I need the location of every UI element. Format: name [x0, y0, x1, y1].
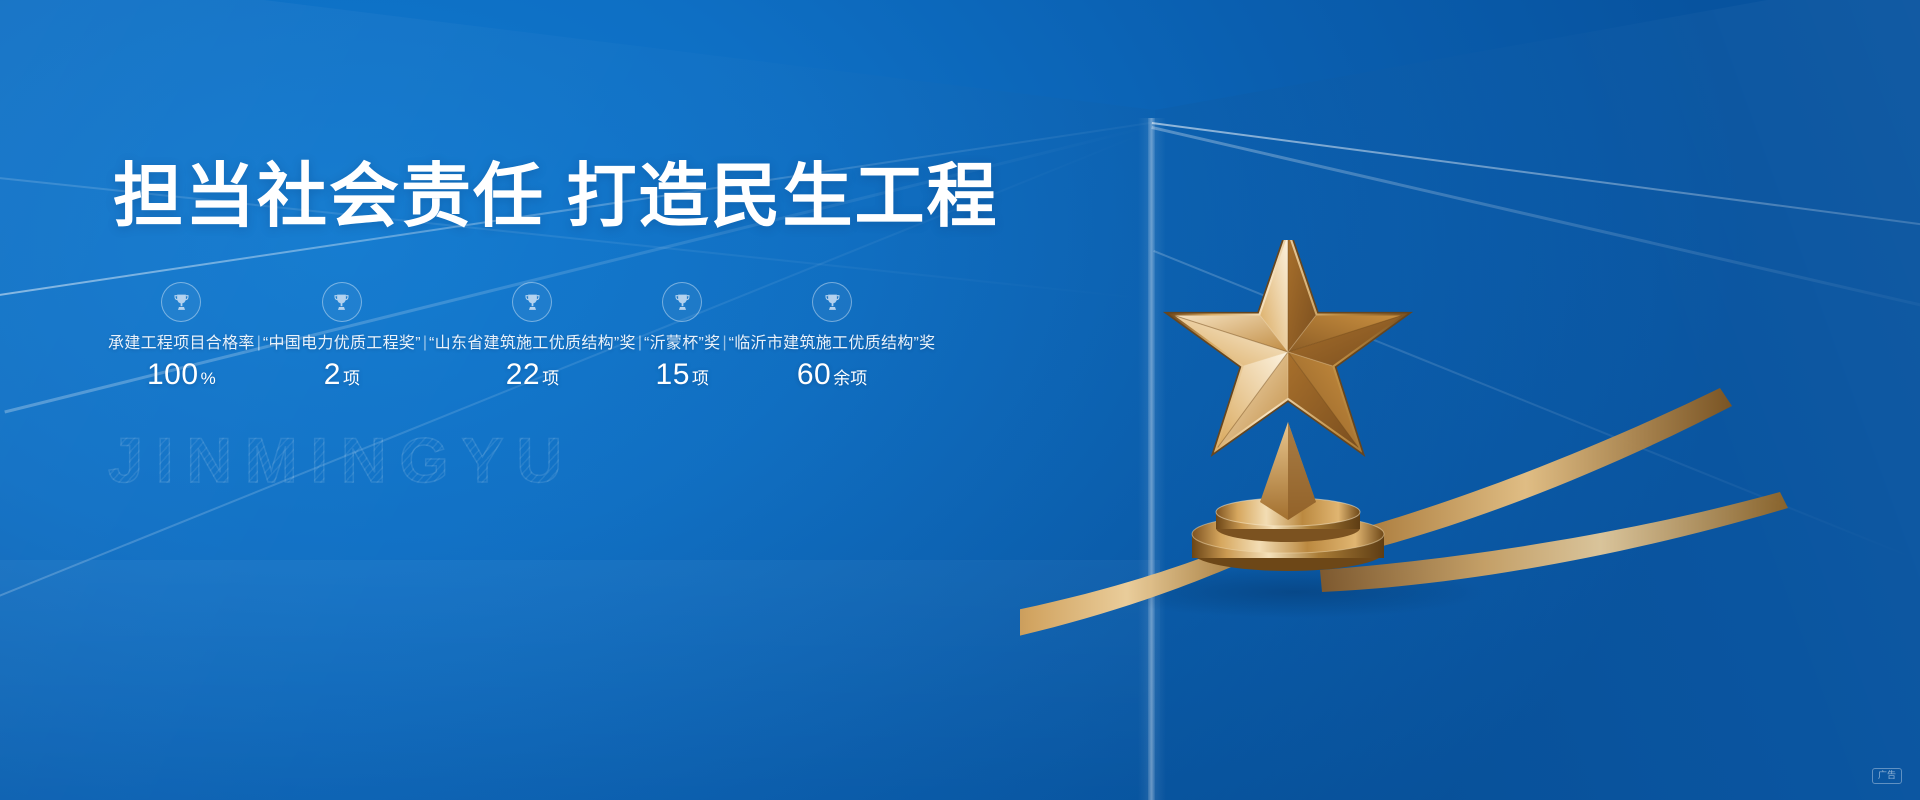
stat-value: 22项 [506, 358, 559, 397]
stat-number: 15 [656, 358, 690, 391]
stat-item: “中国电力优质工程奖” 2项 [263, 282, 421, 397]
watermark-wordmark: JINMINGYU [108, 425, 575, 497]
stat-label: 承建工程项目合格率 [108, 334, 255, 354]
gold-star-trophy-icon [1020, 240, 1920, 800]
trophy-icon [662, 282, 702, 322]
stat-item: 承建工程项目合格率 100% [108, 282, 255, 397]
stat-item: “沂蒙杯”奖 15项 [644, 282, 720, 397]
stat-label: “山东省建筑施工优质结构”奖 [429, 334, 636, 354]
stat-divider: | [636, 334, 644, 352]
stats-row: 承建工程项目合格率 100% | “中国电力优质工程奖” 2项 | [108, 282, 935, 397]
stat-number: 2 [324, 358, 341, 391]
stat-number: 100 [147, 358, 199, 391]
stat-value: 60余项 [797, 358, 867, 397]
stat-divider: | [255, 334, 263, 352]
trophy-icon [812, 282, 852, 322]
stat-number: 60 [797, 358, 831, 391]
stat-value: 15项 [656, 358, 709, 397]
stat-divider: | [421, 334, 429, 352]
promo-banner: 担当社会责任 打造民生工程 承建工程项目合格率 100% | [0, 0, 1920, 800]
stat-label: “临沂市建筑施工优质结构”奖 [729, 334, 936, 354]
ad-badge[interactable]: 广告 [1872, 768, 1902, 784]
trophy-icon [161, 282, 201, 322]
trophy-icon [322, 282, 362, 322]
trophy-icon [512, 282, 552, 322]
stat-unit: 项 [343, 369, 360, 388]
stat-label: “中国电力优质工程奖” [263, 334, 421, 354]
stat-item: “山东省建筑施工优质结构”奖 22项 [429, 282, 636, 397]
stat-item: “临沂市建筑施工优质结构”奖 60余项 [729, 282, 936, 397]
headline-title: 担当社会责任 打造民生工程 [113, 157, 998, 235]
stat-unit: 余项 [833, 369, 867, 388]
stat-value: 2项 [324, 358, 360, 397]
stat-value: 100% [147, 358, 216, 397]
stat-unit: % [201, 369, 216, 388]
stat-number: 22 [506, 358, 540, 391]
background-floor-sheen [0, 560, 1160, 800]
stat-unit: 项 [542, 369, 559, 388]
stat-divider: | [720, 334, 728, 352]
stat-unit: 项 [692, 369, 709, 388]
stat-label: “沂蒙杯”奖 [644, 334, 720, 354]
